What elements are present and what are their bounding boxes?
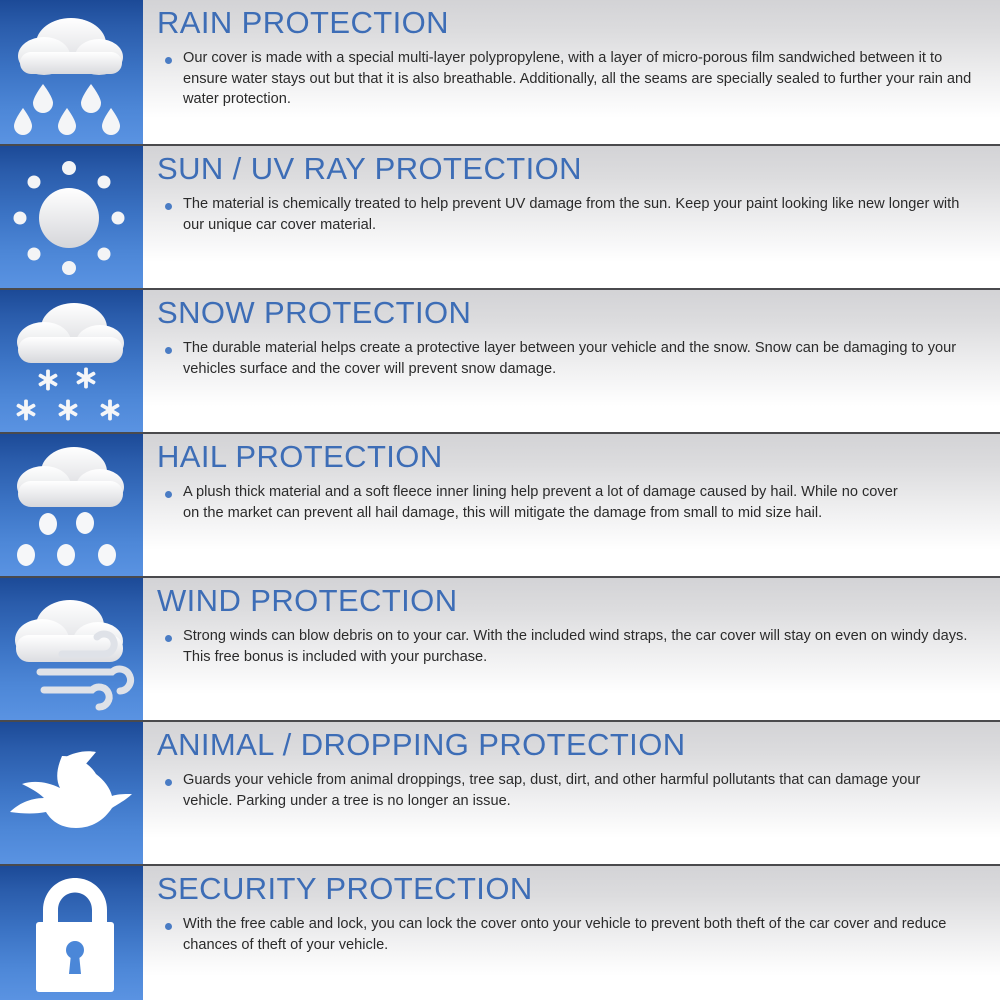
feature-content-security: SECURITY PROTECTION With the free cable … xyxy=(143,866,1000,1000)
feature-heading: SECURITY PROTECTION xyxy=(157,866,982,909)
icon-panel-snow xyxy=(0,290,143,432)
feature-bullet-row: With the free cable and lock, you can lo… xyxy=(157,909,982,955)
feature-row-security: SECURITY PROTECTION With the free cable … xyxy=(0,864,1000,1000)
protection-features-infographic: RAIN PROTECTION Our cover is made with a… xyxy=(0,0,1000,1000)
bird-icon xyxy=(0,722,143,864)
feature-bullet-row: Our cover is made with a special multi-l… xyxy=(157,43,982,110)
icon-panel-hail xyxy=(0,434,143,576)
bullet-dot-icon xyxy=(165,491,172,498)
wind-cloud-icon xyxy=(0,578,143,720)
feature-row-hail: HAIL PROTECTION A plush thick material a… xyxy=(0,432,1000,576)
feature-row-animal: ANIMAL / DROPPING PROTECTION Guards your… xyxy=(0,720,1000,864)
feature-bullet-row: A plush thick material and a soft fleece… xyxy=(157,477,982,523)
feature-content-animal: ANIMAL / DROPPING PROTECTION Guards your… xyxy=(143,722,1000,864)
feature-bullet-row: The material is chemically treated to he… xyxy=(157,189,982,235)
feature-bullet-row: The durable material helps create a prot… xyxy=(157,333,982,379)
feature-bullet-row: Strong winds can blow debris on to your … xyxy=(157,621,982,667)
snow-cloud-icon xyxy=(0,290,143,432)
feature-content-rain: RAIN PROTECTION Our cover is made with a… xyxy=(143,0,1000,144)
feature-body: Strong winds can blow debris on to your … xyxy=(183,626,982,667)
bullet-dot-icon xyxy=(165,635,172,642)
icon-panel-wind xyxy=(0,578,143,720)
feature-heading: RAIN PROTECTION xyxy=(157,0,982,43)
feature-content-snow: SNOW PROTECTION The durable material hel… xyxy=(143,290,1000,432)
icon-panel-rain xyxy=(0,0,143,144)
rain-cloud-icon xyxy=(0,0,143,144)
hail-cloud-icon xyxy=(0,434,143,576)
bullet-dot-icon xyxy=(165,779,172,786)
bullet-dot-icon xyxy=(165,203,172,210)
feature-heading: ANIMAL / DROPPING PROTECTION xyxy=(157,722,982,765)
icon-panel-sun xyxy=(0,146,143,288)
feature-heading: SNOW PROTECTION xyxy=(157,290,982,333)
bullet-dot-icon xyxy=(165,57,172,64)
feature-row-snow: SNOW PROTECTION The durable material hel… xyxy=(0,288,1000,432)
feature-heading: HAIL PROTECTION xyxy=(157,434,982,477)
feature-bullet-row: Guards your vehicle from animal dropping… xyxy=(157,765,982,811)
feature-heading: WIND PROTECTION xyxy=(157,578,982,621)
bullet-dot-icon xyxy=(165,347,172,354)
feature-row-rain: RAIN PROTECTION Our cover is made with a… xyxy=(0,0,1000,144)
feature-row-sun: SUN / UV RAY PROTECTION The material is … xyxy=(0,144,1000,288)
feature-content-wind: WIND PROTECTION Strong winds can blow de… xyxy=(143,578,1000,720)
icon-panel-security xyxy=(0,866,143,1000)
feature-body: The durable material helps create a prot… xyxy=(183,338,982,379)
feature-body: A plush thick material and a soft fleece… xyxy=(183,482,903,523)
feature-body: Our cover is made with a special multi-l… xyxy=(183,48,982,110)
feature-body: Guards your vehicle from animal dropping… xyxy=(183,770,973,811)
feature-content-hail: HAIL PROTECTION A plush thick material a… xyxy=(143,434,1000,576)
feature-row-wind: WIND PROTECTION Strong winds can blow de… xyxy=(0,576,1000,720)
padlock-icon xyxy=(0,866,143,1000)
feature-content-sun: SUN / UV RAY PROTECTION The material is … xyxy=(143,146,1000,288)
sun-icon xyxy=(0,146,143,288)
feature-body: With the free cable and lock, you can lo… xyxy=(183,914,953,955)
bullet-dot-icon xyxy=(165,923,172,930)
icon-panel-animal xyxy=(0,722,143,864)
feature-body: The material is chemically treated to he… xyxy=(183,194,982,235)
feature-heading: SUN / UV RAY PROTECTION xyxy=(157,146,982,189)
